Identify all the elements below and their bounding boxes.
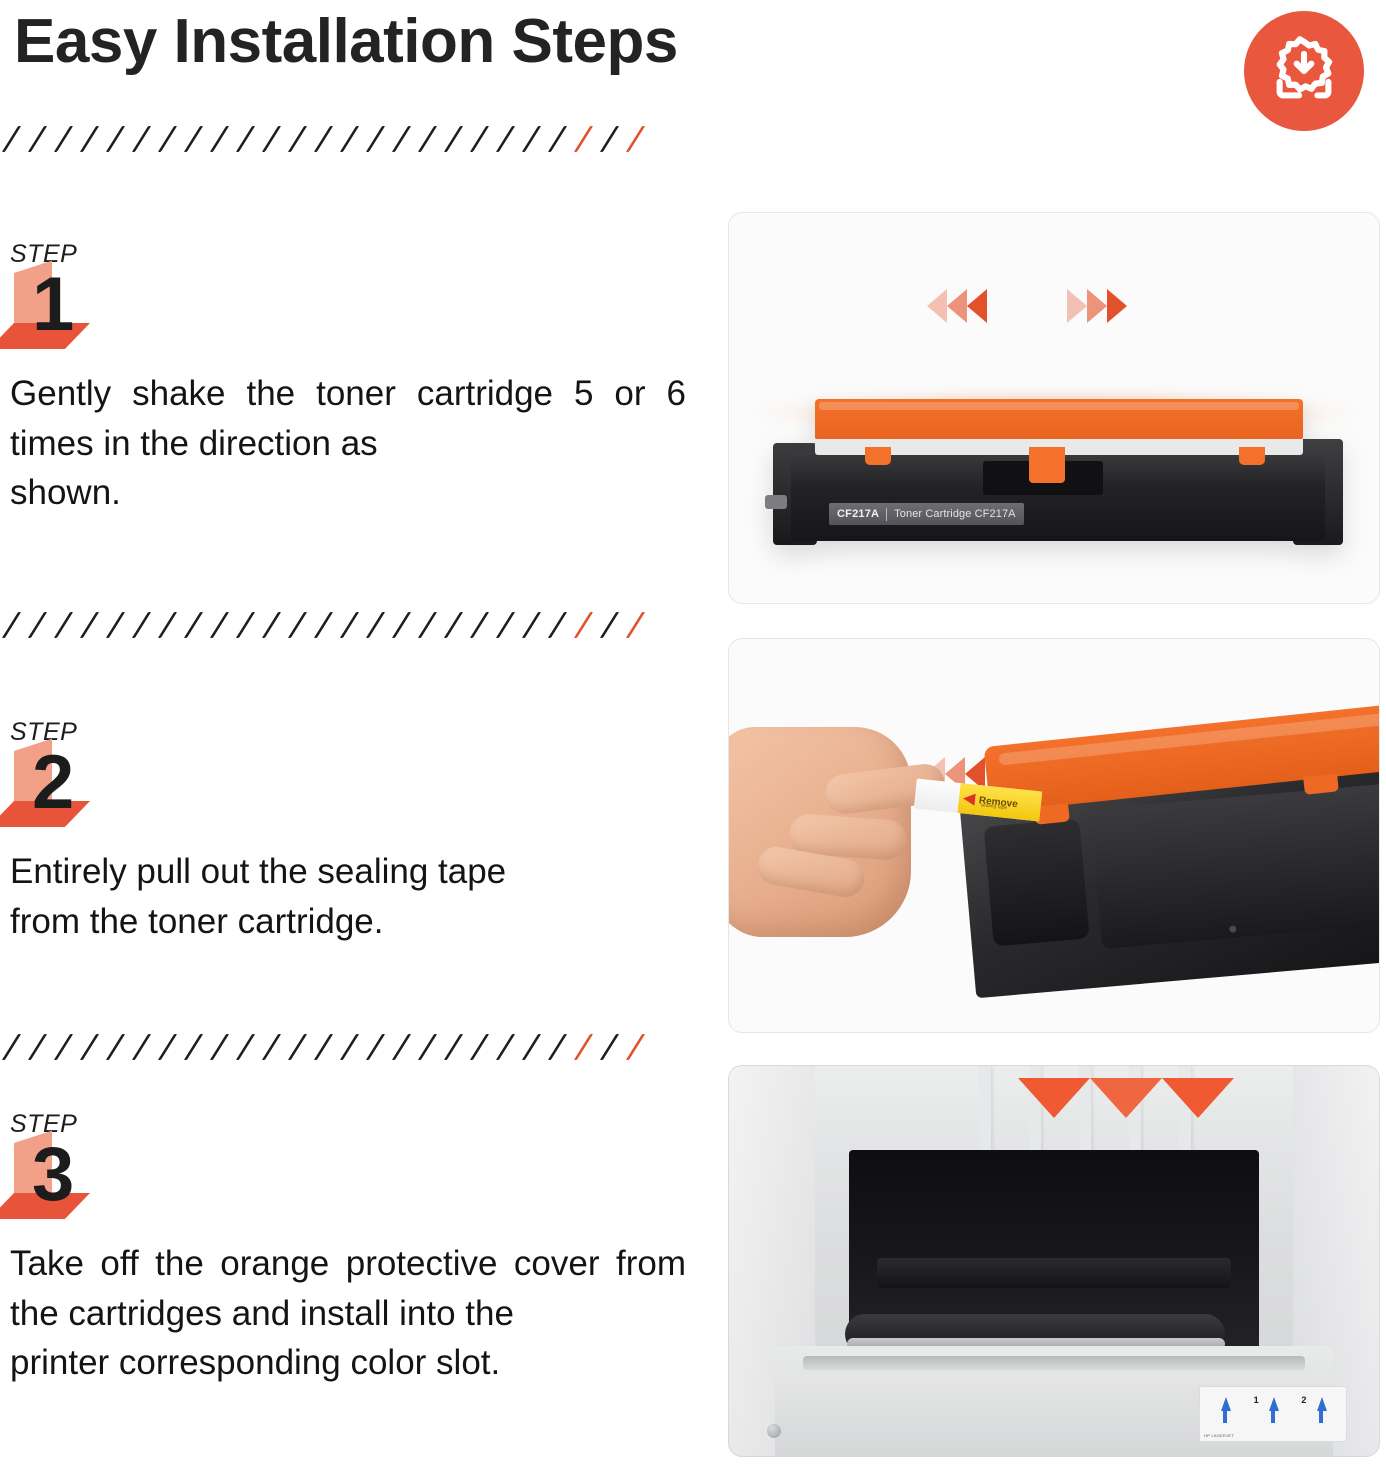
arrow-stem [1223,1409,1227,1423]
toner-cartridge-shake-photo: CF217A Toner Cartridge CF217A [728,212,1380,604]
sticker-step-number: 2 [1301,1395,1306,1405]
cartridge-model: CF217A [837,508,879,520]
step-2-number: 2 [32,745,72,821]
sticker-cell: 2 [1299,1391,1342,1437]
divider-hatch-2 [10,608,660,642]
chevron-left-icon [927,289,947,323]
step-1-line-3: shown. [10,468,686,518]
sticker-cell [1204,1391,1247,1437]
chevron-left-icon [967,289,987,323]
step-3-line-1: Take off the orange protective cover [10,1244,600,1283]
arrow-stem [1271,1409,1275,1423]
step-3-text: Take off the orange protective cover fro… [10,1239,686,1388]
sealing-tape-pull-photo: TH ML Remove sealing tape [728,638,1380,1033]
cover-tab [865,447,891,465]
step-1: STEP 1 Gently shake the toner cartridge … [10,240,700,518]
steps-column: STEP 1 Gently shake the toner cartridge … [0,0,700,1468]
step-2-badge: 2 [12,749,104,829]
cartridge-label: CF217A Toner Cartridge CF217A [829,503,1024,525]
step-3: STEP 3 Take off the orange protective co… [10,1110,700,1388]
chevron-right-icon [1067,289,1087,323]
toner-cartridge-illustration: CF217A Toner Cartridge CF217A [773,399,1343,559]
sticker-step-number: 1 [1254,1395,1259,1405]
cover-tab-center [1029,447,1065,483]
cartridge-ridge-left [984,819,1090,947]
chevron-left-icon [947,289,967,323]
cover-tab [1239,447,1265,465]
printer-fin [979,1066,991,1152]
step-3-line-3: printer corresponding color slot. [10,1338,686,1388]
sticker-cell: 1 [1252,1391,1295,1437]
printer-paper-slot [803,1356,1305,1370]
chevron-down-icon [1090,1078,1162,1135]
install-gear-download-icon [1244,11,1364,131]
step-2-line-1: Entirely pull out the sealing tape [10,852,506,891]
cover-tab [1303,773,1339,794]
chevron-down-icon [1018,1078,1090,1135]
step-1-label: STEP [10,240,700,269]
shake-arrow-right [1067,289,1127,323]
printer-screw [767,1424,781,1438]
arrow-stem [1319,1409,1323,1423]
step-2: STEP 2 Entirely pull out the sealing tap… [10,718,700,946]
install-arrow-down [1018,1118,1234,1136]
printer-install-photo: HP LASERJET 1 2 [728,1065,1380,1457]
easy-installation-steps-page: Easy Installation Steps STEP [0,0,1386,1468]
step-2-text: Entirely pull out the sealing tape from … [10,847,686,946]
printer-instruction-sticker: HP LASERJET 1 2 [1199,1386,1347,1442]
step-3-label: STEP [10,1110,700,1139]
step-3-badge: 3 [12,1141,104,1221]
label-separator [886,508,887,521]
step-2-label: STEP [10,718,700,747]
printer-inner-bar [877,1258,1231,1288]
orange-protective-cover [815,399,1303,439]
chevron-right-icon [1107,289,1127,323]
cartridge-ridge-main [1090,783,1380,949]
cartridge-knob [765,495,787,509]
step-1-line-1: Gently shake the toner cartridge [10,374,553,413]
step-1-badge: 1 [12,271,104,351]
shake-arrow-left [927,289,987,323]
step-2-line-2: from the toner cartridge. [10,897,686,947]
arrow-left-icon [962,792,975,805]
step-1-number: 1 [32,267,72,343]
chevron-down-icon [1162,1078,1234,1135]
cartridge-description: Toner Cartridge CF217A [894,508,1015,520]
divider-hatch-3 [10,1030,660,1064]
step-3-number: 3 [32,1137,72,1213]
chevron-right-icon [1087,289,1107,323]
step-1-text: Gently shake the toner cartridge 5 or 6 … [10,369,686,518]
